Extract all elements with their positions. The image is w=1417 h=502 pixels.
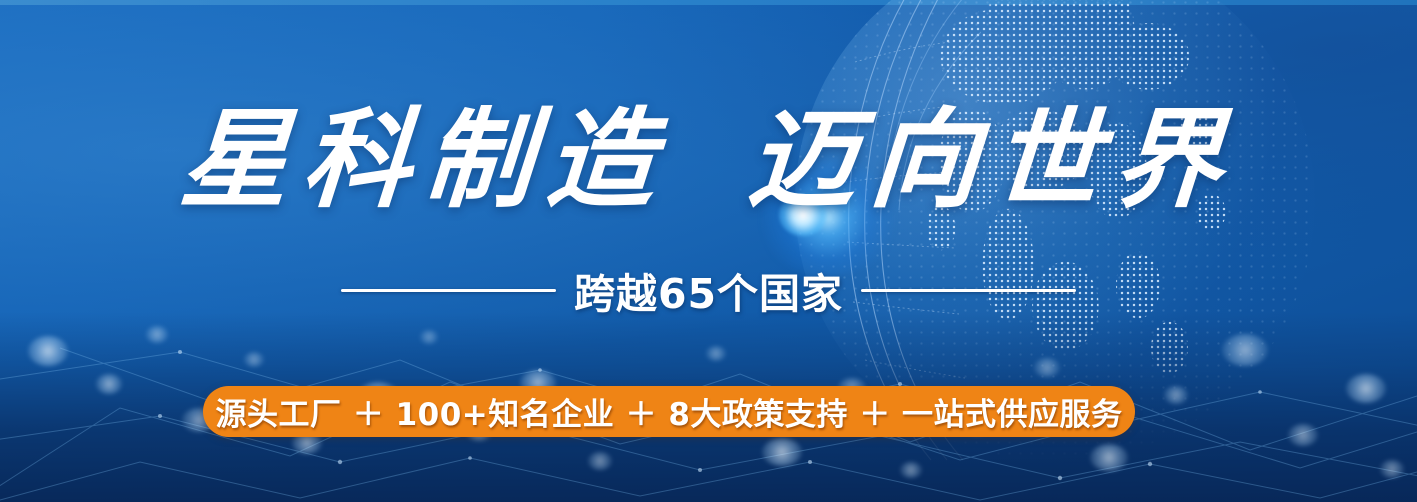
headline-spacer [664,97,752,223]
headline-part-2: 迈向世界 [744,97,1241,223]
headline-title: 星科制造 迈向世界 [0,104,1417,217]
promo-pill-text: 源头工厂 ＋ 100+知名企业 ＋ 8大政策支持 ＋ 一站式供应服务 [215,389,1122,434]
marketing-banner: 星科制造 迈向世界 跨越65个国家 源头工厂 ＋ 100+知名企业 ＋ 8大政策… [0,0,1417,502]
subtitle-rule-left [341,289,556,292]
banner-content: 星科制造 迈向世界 跨越65个国家 源头工厂 ＋ 100+知名企业 ＋ 8大政策… [0,0,1417,502]
headline-part-1: 星科制造 [176,97,673,223]
subtitle-text: 跨越65个国家 [574,260,843,320]
promo-pill-button[interactable]: 源头工厂 ＋ 100+知名企业 ＋ 8大政策支持 ＋ 一站式供应服务 [203,386,1135,437]
subtitle-row: 跨越65个国家 [0,262,1417,318]
subtitle-rule-right [861,289,1076,292]
